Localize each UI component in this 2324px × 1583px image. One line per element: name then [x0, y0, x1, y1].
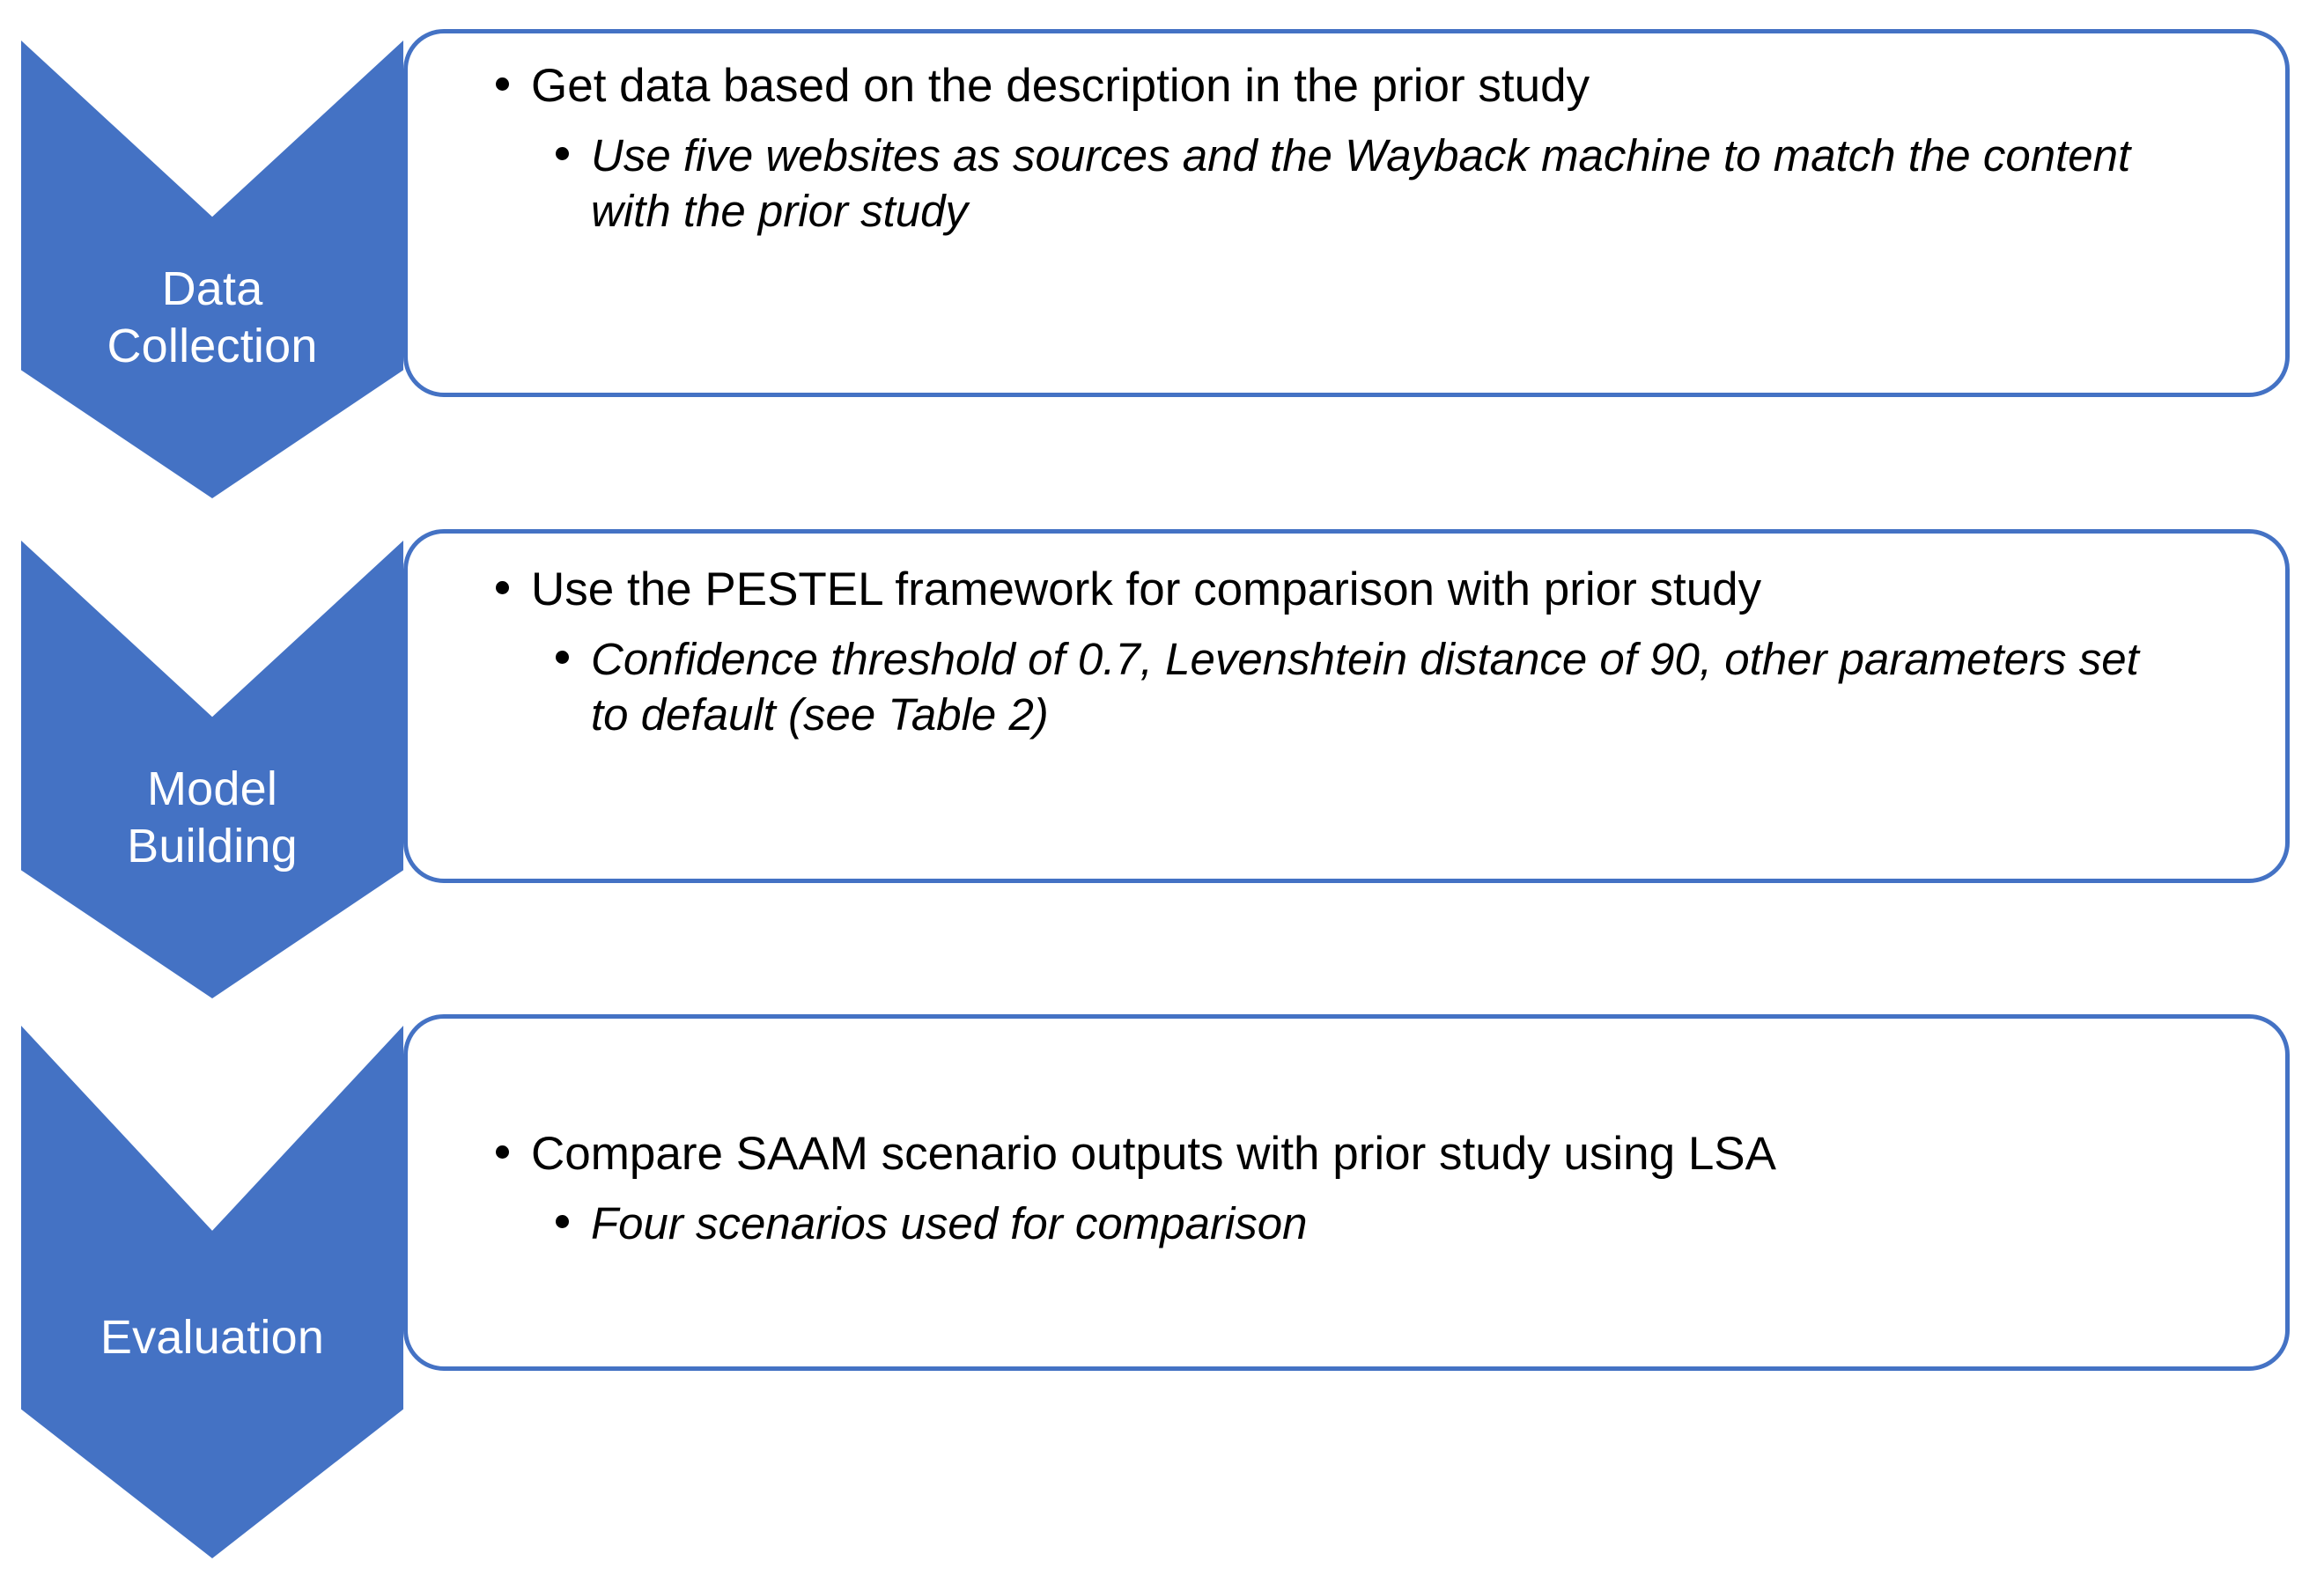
bullet-text: Confidence threshold of 0.7, Levenshtein…	[591, 631, 2188, 742]
chevron-shape-evaluation: Evaluation	[21, 1026, 403, 1558]
bullet-dot-icon	[556, 147, 569, 160]
content-box-evaluation: Compare SAAM scenario outputs with prior…	[403, 1014, 2290, 1371]
chevron-shape-model-building: Model Building	[21, 541, 403, 998]
bullet-text: Compare SAAM scenario outputs with prior…	[531, 1126, 2206, 1183]
chevron-shape-data-collection: Data Collection	[21, 40, 403, 498]
process-stage-model-building: Model Building Use the PESTEL framework …	[0, 500, 2324, 986]
bullet-item-level1: Get data based on the description in the…	[408, 58, 2285, 115]
bullet-dot-icon	[496, 581, 509, 594]
process-flow-diagram: Data Collection Get data based on the de…	[0, 0, 2324, 1583]
bullet-dot-icon	[496, 1145, 509, 1159]
bullet-list-data-collection: Get data based on the description in the…	[408, 58, 2285, 239]
bullet-item-level2: Use five websites as sources and the Way…	[408, 128, 2285, 239]
bullet-item-level2: Four scenarios used for comparison	[408, 1196, 2285, 1251]
bullet-text: Four scenarios used for comparison	[591, 1196, 2188, 1251]
bullet-dot-icon	[556, 1215, 569, 1228]
content-box-data-collection: Get data based on the description in the…	[403, 29, 2290, 397]
chevron-label-data-collection: Data Collection	[107, 261, 317, 375]
chevron-label-evaluation: Evaluation	[100, 1309, 324, 1366]
process-stage-evaluation: Evaluation Compare SAAM scenario outputs…	[0, 985, 2324, 1583]
bullet-dot-icon	[496, 77, 509, 91]
content-box-model-building: Use the PESTEL framework for comparison …	[403, 529, 2290, 883]
bullet-item-level2: Confidence threshold of 0.7, Levenshtein…	[408, 631, 2285, 742]
bullet-item-level1: Compare SAAM scenario outputs with prior…	[408, 1126, 2285, 1183]
bullet-list-evaluation: Compare SAAM scenario outputs with prior…	[408, 1126, 2285, 1251]
bullet-dot-icon	[556, 651, 569, 664]
bullet-text: Use five websites as sources and the Way…	[591, 128, 2188, 239]
bullet-item-level1: Use the PESTEL framework for comparison …	[408, 562, 2285, 619]
bullet-text: Use the PESTEL framework for comparison …	[531, 562, 2206, 619]
chevron-label-model-building: Model Building	[127, 761, 298, 875]
process-stage-data-collection: Data Collection Get data based on the de…	[0, 0, 2324, 528]
bullet-list-model-building: Use the PESTEL framework for comparison …	[408, 562, 2285, 742]
bullet-text: Get data based on the description in the…	[531, 58, 2206, 115]
